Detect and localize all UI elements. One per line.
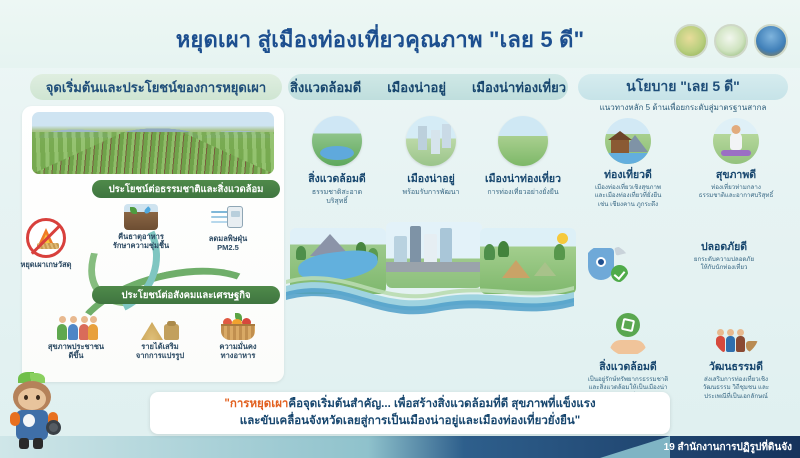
- loei-province-logo: [754, 24, 788, 58]
- livable-city-icon: [406, 116, 456, 166]
- footer-bar: 19 สำนักงานการปฏิรูปที่ดินจัง: [0, 436, 800, 458]
- rice-pile-shape: [141, 322, 163, 340]
- mascot-badge: [23, 414, 35, 427]
- quote-line-1-rest: คือจุดเริ่มต้นสำคัญ... เพื่อสร้างสิ่งแวด…: [288, 398, 595, 410]
- straw-shape: [37, 243, 59, 249]
- building-shape-4: [440, 228, 452, 264]
- family-health-icon: [56, 310, 96, 340]
- policy-item-2: ปลอดภัยดี ยกระดับความปลอดภัย ให้กับนักท่…: [660, 238, 788, 273]
- tent-shape-2: [534, 262, 556, 276]
- river-ribbon: [286, 276, 574, 318]
- mid-column-0: สิ่งแวดล้อมดี ธรรมชาติสะอาด บริสุทธิ์: [290, 116, 384, 206]
- social-item-label-0: สุขภาพประชาชน ดีขึ้น: [36, 342, 116, 361]
- tree-in-hands-icon: [605, 310, 651, 356]
- rice-bag-shape: [164, 324, 179, 340]
- social-item-label-1: รายได้เสริม จากการแปรรูป: [124, 342, 196, 361]
- house-shape: [611, 138, 629, 154]
- flame-inner-shape: [42, 234, 50, 243]
- policy-title-2: ปลอดภัยดี: [660, 238, 788, 255]
- left-section-header: จุดเริ่มต้นและประโยชน์ของการหยุดเผา: [30, 74, 282, 100]
- person-body-shape: [730, 132, 742, 150]
- mid-column-title-0: สิ่งแวดล้อมดี: [290, 170, 384, 187]
- person-head-shape: [732, 125, 741, 134]
- right-section-header: นโยบาย "เลย 5 ดี": [578, 74, 788, 100]
- mid-section-header: สิ่งแวดล้อมดี เมืองน่าอยู่ เมืองน่าท่องเ…: [288, 74, 568, 100]
- road-shape: [386, 262, 482, 272]
- policy-title-4: วัฒนธรรมดี: [686, 358, 786, 375]
- soil-nutrient-icon: [124, 204, 158, 230]
- provincial-seal-logo: [674, 24, 708, 58]
- nature-item-0: หยุดเผาเกษวัสดุ: [12, 218, 80, 269]
- mid-column-1: เมืองน่าอยู่ พร้อมรับการพัฒนา: [384, 116, 478, 197]
- clean-environment-icon: [312, 116, 362, 166]
- quote-banner: "การหยุดเผาคือจุดเริ่มต้นสำคัญ... เพื่อส…: [150, 392, 670, 434]
- food-basket-icon: [218, 310, 258, 340]
- infographic-page: หยุดเผา สู่เมืองท่องเที่ยวคุณภาพ "เลย 5 …: [0, 0, 800, 458]
- air-purifier-icon: [211, 204, 245, 232]
- policy-title-0: ท่องเที่ยวดี: [578, 166, 678, 183]
- mascot-eye-right: [36, 395, 40, 400]
- check-badge-shape: [611, 265, 628, 282]
- building-shape-1: [394, 236, 407, 264]
- sprout-shape: [130, 207, 137, 214]
- page-title: หยุดเผา สู่เมืองท่องเที่ยวคุณภาพ "เลย 5 …: [120, 22, 640, 57]
- person-shape-1: [57, 324, 67, 340]
- mid-column-title-2: เมืองน่าท่องเที่ยว: [474, 170, 572, 187]
- quote-line-2: และขับเคลื่อนจังหวัดเลยสู่การเป็นเมืองน่…: [240, 413, 580, 430]
- tourism-city-icon: [498, 116, 548, 166]
- forest-shape: [484, 244, 495, 260]
- policy-subtitle-2: ยกระดับความปลอดภัย ให้กับนักท่องเที่ยว: [660, 256, 788, 273]
- logo-group: [674, 24, 788, 58]
- riverside-house-icon: [605, 118, 651, 164]
- yoga-mat-shape: [721, 150, 751, 156]
- nature-item-2: ลดมลพิษฝุ่น PM2.5: [190, 204, 266, 253]
- policy-item-1: สุขภาพดี ท่องเที่ยวท่ามกลาง ธรรมชาติและอ…: [686, 118, 786, 201]
- social-item-0: สุขภาพประชาชน ดีขึ้น: [36, 310, 116, 361]
- mascot-face: [18, 388, 46, 410]
- footer-text: 19 สำนักงานการปฏิรูปที่ดินจัง: [664, 440, 792, 455]
- nature-item-label-2: ลดมลพิษฝุ่น PM2.5: [190, 234, 266, 253]
- mascot-tool: [46, 420, 61, 435]
- social-item-label-2: ความมั่นคง ทางอาหาร: [202, 342, 274, 361]
- roof-shape: [608, 131, 632, 140]
- building-shape-2: [410, 226, 421, 264]
- recycle-shape: [621, 318, 635, 332]
- rice-sack-icon: [141, 312, 179, 340]
- building-shape-3: [424, 234, 437, 264]
- mid-column-2: เมืองน่าท่องเที่ยว การท่องเที่ยวอย่างยั่…: [474, 116, 572, 197]
- mid-header-label-2: เมืองน่าท่องเที่ยว: [472, 77, 566, 98]
- title-bar: หยุดเผา สู่เมืองท่องเที่ยวคุณภาพ "เลย 5 …: [0, 0, 800, 68]
- mid-column-subtitle-1: พร้อมรับการพัฒนา: [384, 188, 478, 197]
- mascot-leg-left: [19, 438, 29, 449]
- nature-item-label-0: หยุดเผาเกษวัสดุ: [12, 260, 80, 269]
- nature-item-label-1: คืนธาตุอาหาร รักษาความชุ่มชื้น: [104, 232, 178, 251]
- water-drop-shape: [143, 206, 151, 214]
- agriculture-logo: [714, 24, 748, 58]
- basket-shape: [221, 324, 255, 340]
- policy-subtitle-0: เมืองท่องเที่ยวเชิงสุขภาพ และเมืองท่องเท…: [578, 184, 678, 209]
- mid-column-subtitle-2: การท่องเที่ยวอย่างยั่งยืน: [474, 188, 572, 197]
- person-shape-2: [68, 324, 78, 340]
- security-shield-icon: [584, 244, 630, 286]
- person-shape-4: [88, 324, 98, 340]
- mascot-eye-left: [24, 395, 28, 400]
- quote-highlight: "การหยุดเผา: [224, 398, 288, 410]
- quote-line-1: "การหยุดเผาคือจุดเริ่มต้นสำคัญ... เพื่อส…: [224, 396, 595, 413]
- no-burning-icon: [26, 218, 66, 258]
- eye-shape: [596, 257, 606, 267]
- mid-column-subtitle-0: ธรรมชาติสะอาด บริสุทธิ์: [290, 188, 384, 206]
- mascot-leg-right: [33, 438, 43, 449]
- water-shape: [605, 153, 651, 164]
- banner-social-benefits: ประโยชน์ต่อสังคมและเศรษฐกิจ: [92, 286, 280, 304]
- mid-column-title-1: เมืองน่าอยู่: [384, 170, 478, 187]
- mountain-shape: [310, 234, 350, 256]
- policy-title-3: สิ่งแวดล้อมดี: [578, 358, 678, 375]
- tree-shape: [296, 246, 306, 260]
- sun-shape: [557, 233, 568, 244]
- villager-shape-1: [716, 336, 725, 352]
- policy-title-1: สุขภาพดี: [686, 166, 786, 183]
- policy-item-4: วัฒนธรรมดี ส่งเสริมการท่องเที่ยวเชิง วัฒ…: [686, 310, 786, 401]
- clay-pot-shape: [746, 341, 759, 352]
- social-item-1: รายได้เสริม จากการแปรรูป: [124, 312, 196, 361]
- nature-item-1: คืนธาตุอาหาร รักษาความชุ่มชื้น: [104, 204, 178, 251]
- policy-subtitle-4: ส่งเสริมการท่องเที่ยวเชิง วัฒนธรรม วิถีช…: [686, 376, 786, 401]
- banner-nature-benefits: ประโยชน์ต่อธรรมชาติและสิ่งแวดล้อม: [92, 180, 280, 198]
- villager-shape-2: [726, 336, 735, 352]
- mid-header-label-1: เมืองน่าอยู่: [387, 77, 446, 98]
- local-culture-icon: [713, 310, 759, 356]
- policy-item-0: ท่องเที่ยวดี เมืองท่องเที่ยวเชิงสุขภาพ แ…: [578, 118, 678, 209]
- hands-shape: [610, 340, 646, 354]
- mascot-arm-left: [10, 412, 20, 426]
- yoga-meditation-icon: [713, 118, 759, 164]
- policy-subtitle-1: ท่องเที่ยวท่ามกลาง ธรรมชาติและอากาศบริสุ…: [686, 184, 786, 201]
- footer-wedge-decoration: [600, 436, 670, 458]
- villager-shape-3: [736, 336, 745, 352]
- purifier-shape: [227, 206, 243, 228]
- social-item-2: ความมั่นคง ทางอาหาร: [202, 310, 274, 361]
- sprout-mascot-character: [4, 372, 62, 452]
- policy-item-3: สิ่งแวดล้อมดี เป็นอยู่รักษ์ทรัพยากรธรรมช…: [578, 310, 678, 401]
- mid-header-label-0: สิ่งแวดล้อมดี: [290, 77, 361, 98]
